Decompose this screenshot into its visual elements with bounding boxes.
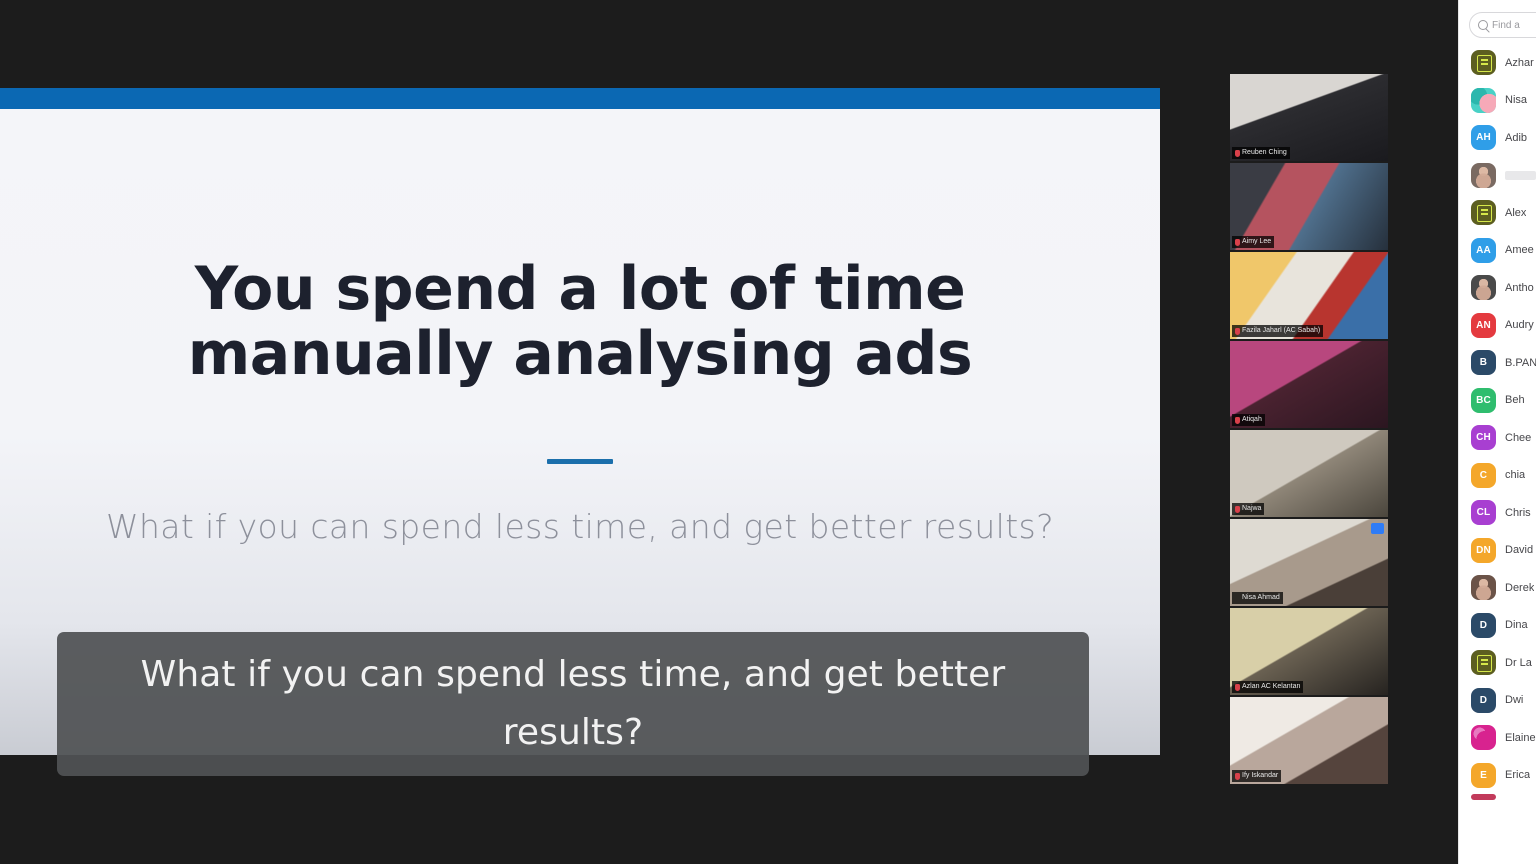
microphone-muted-icon: [1235, 773, 1240, 780]
contact-list-item[interactable]: EErica: [1459, 757, 1536, 795]
contact-name: Adib: [1505, 132, 1527, 144]
participant-tile[interactable]: Fazila Jaharl (AC Sabah): [1230, 252, 1388, 339]
slide-subtitle: What if you can spend less time, and get…: [0, 507, 1160, 547]
participant-name-label: Atiqah: [1232, 414, 1265, 426]
contact-name: Amee: [1505, 244, 1534, 256]
microphone-muted-icon: [1235, 328, 1240, 335]
contact-list-item[interactable]: Derek: [1459, 569, 1536, 607]
contact-list-item[interactable]: CLChris: [1459, 494, 1536, 532]
contact-name: Dwi: [1505, 694, 1523, 706]
contact-name: Derek: [1505, 582, 1534, 594]
contact-list-item[interactable]: AAAmee: [1459, 232, 1536, 270]
participant-name-text: Najwa: [1242, 504, 1261, 514]
live-caption-text: What if you can spend less time, and get…: [99, 646, 1047, 762]
avatar: AH: [1471, 125, 1496, 150]
avatar: [1471, 275, 1496, 300]
contact-name: Nisa: [1505, 94, 1527, 106]
slide-accent-bar: [0, 88, 1160, 109]
participant-name-label: Nisa Ahmad: [1232, 592, 1283, 604]
avatar: [1471, 200, 1496, 225]
contact-list-item[interactable]: Antho: [1459, 269, 1536, 307]
avatar: B: [1471, 350, 1496, 375]
participant-name-text: Fazila Jaharl (AC Sabah): [1242, 326, 1320, 336]
participant-name-label: Fazila Jaharl (AC Sabah): [1232, 325, 1323, 337]
microphone-muted-icon: [1235, 150, 1240, 157]
contact-list-item[interactable]: DDwi: [1459, 682, 1536, 720]
contact-name-placeholder: [1505, 171, 1536, 180]
participant-tile[interactable]: Azlan AC Kelantan: [1230, 608, 1388, 695]
participant-name-text: Reuben Ching: [1242, 148, 1287, 158]
contact-list[interactable]: AzharNisaAHAdibAlexAAAmeeAnthoANAudryBB.…: [1459, 44, 1536, 800]
contact-list-item[interactable]: AHAdib: [1459, 119, 1536, 157]
avatar: D: [1471, 688, 1496, 713]
contact-name: Dr La: [1505, 657, 1532, 669]
microphone-muted-icon: [1235, 684, 1240, 691]
contact-name: David: [1505, 544, 1533, 556]
avatar: [1471, 725, 1496, 750]
avatar: E: [1471, 763, 1496, 788]
avatar: CL: [1471, 500, 1496, 525]
microphone-muted-icon: [1235, 239, 1240, 246]
participant-name-label: Azlan AC Kelantan: [1232, 681, 1303, 693]
screen-share-badge-icon: [1371, 523, 1384, 534]
avatar: [1471, 575, 1496, 600]
contact-name: Chee: [1505, 432, 1531, 444]
avatar: [1471, 163, 1496, 188]
participant-tile[interactable]: Aimy Lee: [1230, 163, 1388, 250]
avatar: C: [1471, 463, 1496, 488]
slide-title: You spend a lot of time manually analysi…: [0, 257, 1160, 387]
participant-name-text: Azlan AC Kelantan: [1242, 682, 1300, 692]
contact-list-item[interactable]: DDina: [1459, 607, 1536, 645]
contact-list-item[interactable]: CHChee: [1459, 419, 1536, 457]
microphone-muted-icon: [1235, 506, 1240, 513]
contact-list-item[interactable]: DNDavid: [1459, 532, 1536, 570]
contact-list-item[interactable]: Alex: [1459, 194, 1536, 232]
contacts-sidebar[interactable]: Find a AzharNisaAHAdibAlexAAAmeeAnthoANA…: [1458, 0, 1536, 864]
contact-name: Audry: [1505, 319, 1534, 331]
participant-name-text: Atiqah: [1242, 415, 1262, 425]
search-placeholder: Find a: [1492, 20, 1520, 31]
participant-name-label: Reuben Ching: [1232, 147, 1290, 159]
avatar: DN: [1471, 538, 1496, 563]
microphone-icon: [1235, 595, 1240, 602]
contact-name: Alex: [1505, 207, 1526, 219]
participant-filmstrip[interactable]: Reuben ChingAimy LeeFazila Jaharl (AC Sa…: [1230, 74, 1388, 784]
avatar: [1471, 88, 1496, 113]
microphone-muted-icon: [1235, 417, 1240, 424]
contact-list-item[interactable]: ANAudry: [1459, 307, 1536, 345]
participant-name-label: Najwa: [1232, 503, 1264, 515]
participant-tile[interactable]: Najwa: [1230, 430, 1388, 517]
contact-name: B.PAN: [1505, 357, 1536, 369]
contact-name: Elaine: [1505, 732, 1536, 744]
participant-tile[interactable]: Reuben Ching: [1230, 74, 1388, 161]
avatar: [1471, 650, 1496, 675]
contact-list-item[interactable]: Nisa: [1459, 82, 1536, 120]
contact-list-item[interactable]: Azhar: [1459, 44, 1536, 82]
contact-list-item[interactable]: BB.PAN: [1459, 344, 1536, 382]
avatar: D: [1471, 613, 1496, 638]
avatar: AN: [1471, 313, 1496, 338]
avatar: BC: [1471, 388, 1496, 413]
contact-list-item[interactable]: BCBeh: [1459, 382, 1536, 420]
contact-list-partial-item[interactable]: [1471, 794, 1496, 800]
contact-name: Chris: [1505, 507, 1531, 519]
contact-list-item[interactable]: Cchia: [1459, 457, 1536, 495]
contact-name: Erica: [1505, 769, 1530, 781]
search-input[interactable]: Find a: [1469, 12, 1536, 38]
participant-name-text: Aimy Lee: [1242, 237, 1271, 247]
avatar: [1471, 50, 1496, 75]
slide-divider-rule: [547, 459, 613, 464]
contact-name: Beh: [1505, 394, 1525, 406]
participant-name-text: Ify Iskandar: [1242, 771, 1278, 781]
search-icon: [1478, 20, 1488, 30]
contact-name: chia: [1505, 469, 1525, 481]
contact-name: Antho: [1505, 282, 1534, 294]
contact-name: Dina: [1505, 619, 1528, 631]
avatar: AA: [1471, 238, 1496, 263]
participant-name-label: Ify Iskandar: [1232, 770, 1281, 782]
participant-name-label: Aimy Lee: [1232, 236, 1274, 248]
contact-list-item[interactable]: Dr La: [1459, 644, 1536, 682]
participant-tile[interactable]: Nisa Ahmad: [1230, 519, 1388, 606]
live-caption-box: What if you can spend less time, and get…: [57, 632, 1089, 776]
contact-list-item[interactable]: Elaine: [1459, 719, 1536, 757]
participant-tile[interactable]: Ify Iskandar: [1230, 697, 1388, 784]
participant-name-text: Nisa Ahmad: [1242, 593, 1280, 603]
contact-list-item[interactable]: [1459, 157, 1536, 195]
avatar: CH: [1471, 425, 1496, 450]
contact-name: Azhar: [1505, 57, 1534, 69]
screen-share-window: You spend a lot of time manually analysi…: [0, 0, 1536, 864]
participant-tile[interactable]: Atiqah: [1230, 341, 1388, 428]
